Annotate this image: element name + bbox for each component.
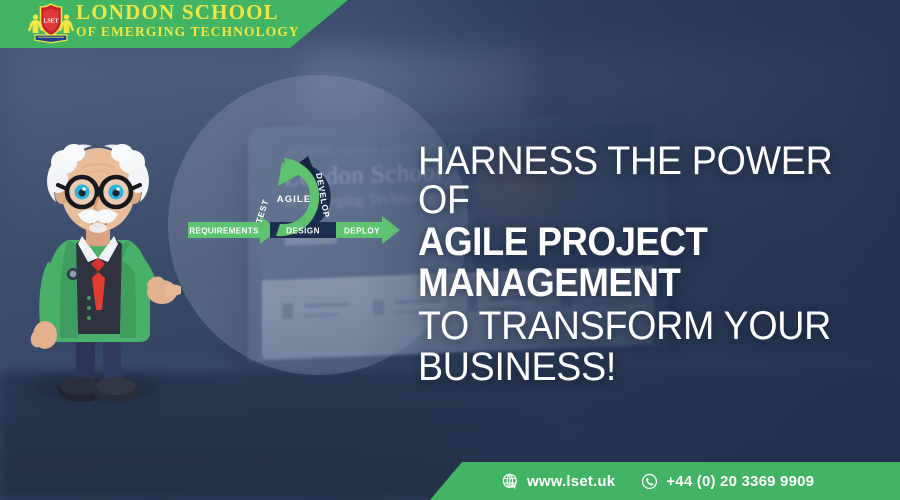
flow-label-deploy: DEPLOY xyxy=(344,226,380,235)
agile-center-label: AGILE xyxy=(277,194,312,205)
headline-line-2: AGILE PROJECT MANAGEMENT xyxy=(418,222,843,304)
headline-line-3: TO TRANSFORM YOUR BUSINESS! xyxy=(418,306,852,388)
svg-text:LSET: LSET xyxy=(43,19,58,25)
professor-mascot xyxy=(16,128,181,410)
marketing-banner: UK BASED TECHNOLOGY SCHOOL London School… xyxy=(0,0,900,500)
brand-line-2: OF EMERGING TECHNOLOGY xyxy=(76,25,300,39)
agile-cycle-diagram: AGILE TEST DEVELOP REQUIREMENTS DESIGN D… xyxy=(186,146,402,250)
lset-crest-shield-icon: LSET xyxy=(28,3,74,45)
headline-block: HARNESS THE POWER OF AGILE PROJECT MANAG… xyxy=(418,142,880,388)
flow-label-requirements: REQUIREMENTS xyxy=(189,226,259,235)
brand-line-1: LONDON SCHOOL xyxy=(76,2,300,23)
headline-line-1: HARNESS THE POWER OF xyxy=(418,142,852,220)
flow-label-design: DESIGN xyxy=(286,226,320,235)
cycle-label-test: TEST xyxy=(254,198,271,225)
brand-wordmark: LONDON SCHOOL OF EMERGING TECHNOLOGY xyxy=(76,2,300,39)
